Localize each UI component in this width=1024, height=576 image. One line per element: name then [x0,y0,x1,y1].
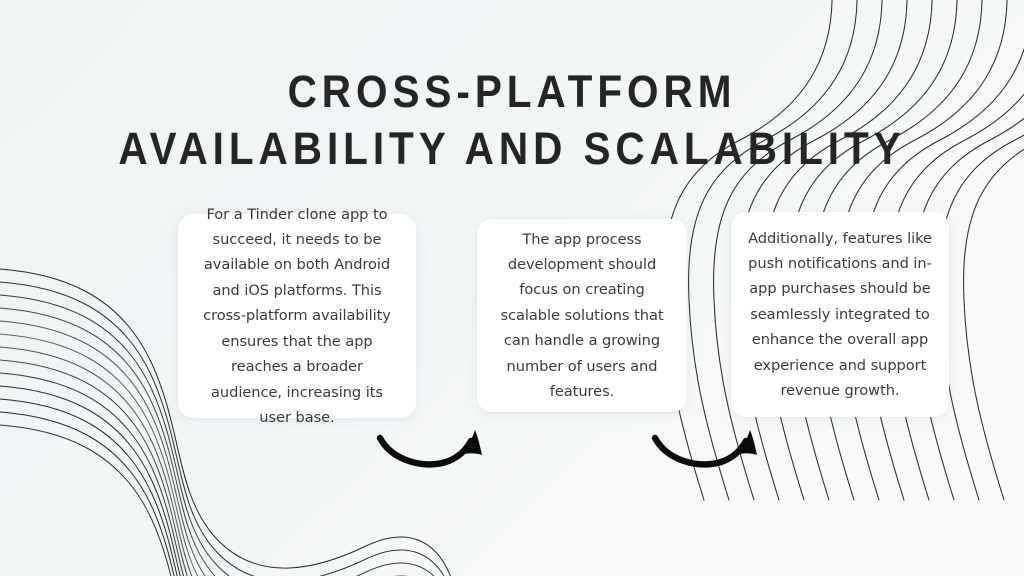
page-title-line-2: AVAILABILITY AND SCALABILITY [51,120,973,177]
page-title: CROSS-PLATFORM AVAILABILITY AND SCALABIL… [0,63,1024,177]
page-title-line-1: CROSS-PLATFORM [51,63,973,120]
info-card-3: Additionally, features like push notific… [731,212,949,417]
info-card-1-text: For a Tinder clone app to succeed, it ne… [194,202,400,431]
info-card-3-text: Additionally, features like push notific… [745,226,935,404]
curved-arrow-right-icon [649,424,761,472]
info-card-2: The app process development should focus… [477,219,687,412]
slide-canvas: CROSS-PLATFORM AVAILABILITY AND SCALABIL… [0,0,1024,576]
info-card-1: For a Tinder clone app to succeed, it ne… [178,214,416,418]
info-card-2-text: The app process development should focus… [489,227,675,405]
curved-arrow-right-icon [374,424,486,472]
